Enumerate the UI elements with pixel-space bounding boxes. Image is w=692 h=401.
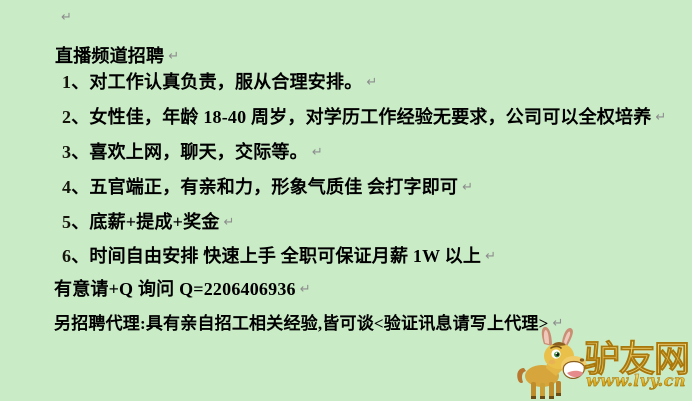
pilcrow-icon: ↵ bbox=[651, 110, 666, 125]
pilcrow-icon: ↵ bbox=[220, 215, 235, 230]
list-item-text: 五官端正，有亲和力，形象气质佳 会打字即可 bbox=[89, 177, 458, 197]
pilcrow-icon: ↵ bbox=[481, 249, 496, 264]
list-item-text-after: 周岁，对学历工作经验无要求，公司可以全权培养 bbox=[246, 107, 651, 127]
pilcrow-icon: ↵ bbox=[296, 282, 311, 297]
list-item-separator: 、 bbox=[71, 177, 89, 197]
list-item-number: 1 bbox=[62, 72, 71, 92]
list-item: 5、底薪+提成+奖金↵ bbox=[62, 208, 235, 234]
donkey-mascot-icon bbox=[512, 324, 590, 401]
list-item-separator: 、 bbox=[71, 246, 89, 266]
list-item-separator: 、 bbox=[71, 142, 89, 162]
pilcrow-icon: ↵ bbox=[164, 49, 179, 64]
list-item: 2、女性佳，年龄 18-40 周岁，对学历工作经验无要求，公司可以全权培养↵ bbox=[62, 103, 667, 129]
qq-number: 2206406936 bbox=[204, 279, 296, 299]
empty-paragraph: ↵ bbox=[57, 10, 72, 28]
list-item: 1、对工作认真负责，服从合理安排。↵ bbox=[62, 68, 378, 94]
list-item-number: 6 bbox=[62, 246, 71, 266]
list-item-separator: 、 bbox=[71, 212, 89, 232]
qq-label: Q= bbox=[179, 279, 204, 299]
brand-lockup: 驴友网 www.lvy.cn bbox=[584, 330, 692, 396]
list-item: 6、时间自由安排 快速上手 全职可保证月薪 1W 以上↵ bbox=[62, 242, 496, 268]
pilcrow-icon: ↵ bbox=[308, 145, 323, 160]
brand-url: www.lvy.cn bbox=[586, 371, 686, 390]
list-item-text: 对工作认真负责，服从合理安排。 bbox=[89, 72, 362, 92]
pilcrow-icon: ↵ bbox=[458, 180, 473, 195]
list-item-text: 喜欢上网，聊天，交际等。 bbox=[89, 142, 307, 162]
salary-value: 1W bbox=[413, 246, 440, 266]
list-item-text: 底薪+提成+奖金 bbox=[89, 212, 219, 232]
list-item-text-before: 时间自由安排 快速上手 全职可保证月薪 bbox=[89, 246, 413, 266]
pilcrow-icon: ↵ bbox=[362, 75, 377, 90]
page-title: 直播频道招聘↵ bbox=[55, 42, 179, 68]
contact-prefix: 有意请+Q 询问 bbox=[54, 279, 179, 299]
list-item: 3、喜欢上网，聊天，交际等。↵ bbox=[62, 138, 323, 164]
list-item-text-before: 女性佳，年龄 bbox=[89, 107, 203, 127]
list-item-separator: 、 bbox=[71, 72, 89, 92]
list-item: 4、五官端正，有亲和力，形象气质佳 会打字即可↵ bbox=[62, 173, 473, 199]
list-item-number: 4 bbox=[62, 177, 71, 197]
pilcrow-icon: ↵ bbox=[57, 10, 72, 25]
list-item-text-after: 以上 bbox=[440, 246, 481, 266]
document-canvas: ↵ 直播频道招聘↵ 1、对工作认真负责，服从合理安排。↵ 2、女性佳，年龄 18… bbox=[0, 0, 692, 401]
agent-note-text: 另招聘代理:具有亲自招工相关经验,皆可谈<验证讯息请写上代理> bbox=[54, 314, 548, 333]
watermark: 驴友网 www.lvy.cn bbox=[512, 322, 692, 401]
list-item-number: 5 bbox=[62, 212, 71, 232]
agent-note: 另招聘代理:具有亲自招工相关经验,皆可谈<验证讯息请写上代理>↵ bbox=[54, 309, 564, 334]
list-item-number: 3 bbox=[62, 142, 71, 162]
list-item-separator: 、 bbox=[71, 107, 89, 127]
list-item-number: 2 bbox=[62, 107, 71, 127]
age-range-value: 18-40 bbox=[203, 107, 246, 127]
page-title-text: 直播频道招聘 bbox=[55, 46, 164, 66]
contact-line: 有意请+Q 询问 Q=2206406936↵ bbox=[54, 275, 311, 301]
